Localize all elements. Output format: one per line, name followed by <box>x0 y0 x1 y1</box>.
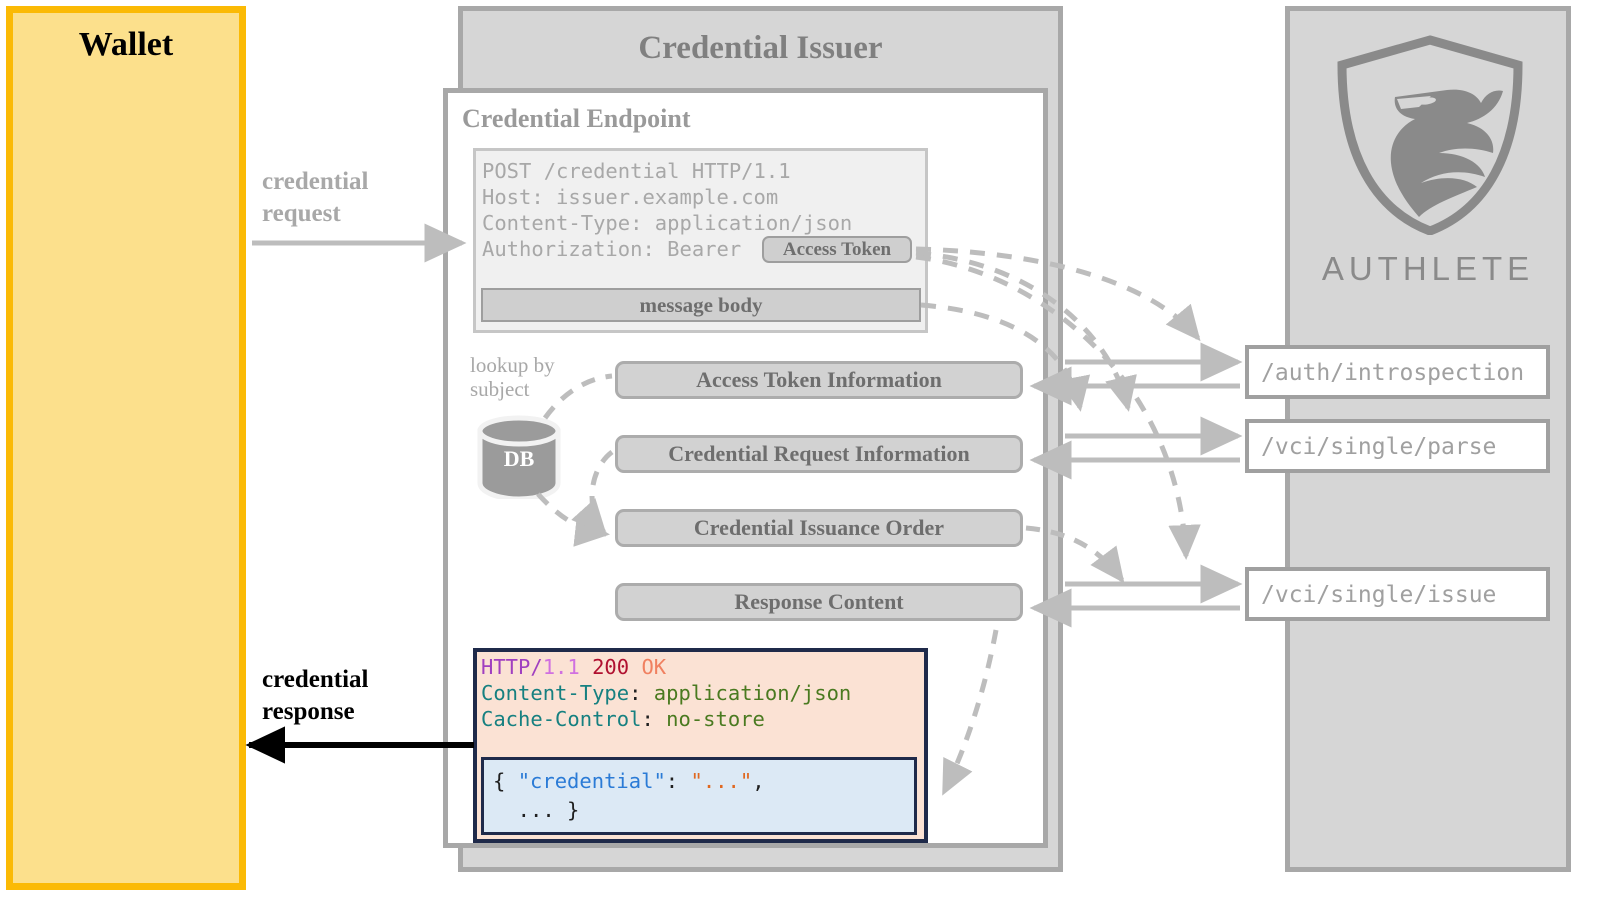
arrow-db-to-issuance-order <box>538 494 606 534</box>
arrow-req-info-to-issuance-order <box>592 452 612 532</box>
arrows-parse-pair <box>1034 436 1240 460</box>
arrows-issue-pair <box>1034 584 1240 608</box>
arrow-response-content-to-json <box>944 630 996 792</box>
arrow-token-to-introspection <box>916 249 1198 338</box>
diagram-canvas: Wallet Credential Issuer AUTHLETE Creden… <box>0 0 1600 900</box>
arrow-body-to-parse <box>921 305 1080 408</box>
arrow-issuance-order-to-issue <box>1026 528 1122 580</box>
arrow-db-to-token-info <box>545 376 612 418</box>
connector-arrows <box>0 0 1600 900</box>
